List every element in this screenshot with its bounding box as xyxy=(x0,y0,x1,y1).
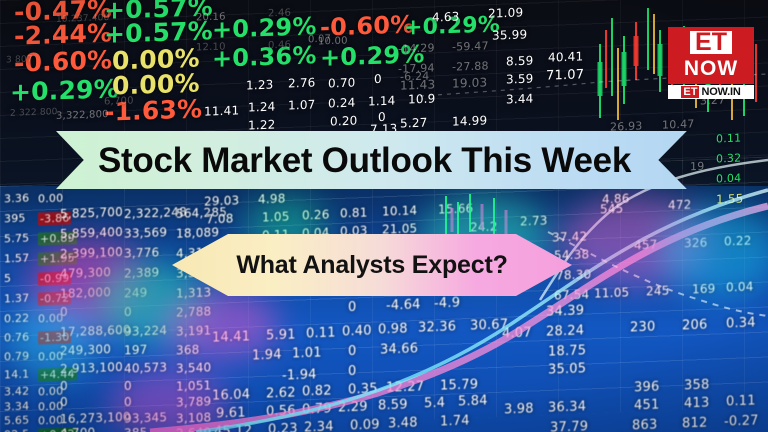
logo-et-row: ET xyxy=(668,27,754,57)
headline-text: Stock Market Outlook This Week xyxy=(98,143,631,178)
logo-site-suffix: NOW.IN xyxy=(701,86,740,98)
subhead-text: What Analysts Expect? xyxy=(236,251,507,280)
subhead-arrow-banner: What Analysts Expect? xyxy=(172,234,572,296)
logo-now-row: NOW xyxy=(668,57,754,84)
logo-now-text: NOW xyxy=(684,57,738,80)
logo-letter-e: ET xyxy=(690,31,732,54)
glow-blob xyxy=(108,370,228,432)
glow-blob xyxy=(160,290,280,360)
logo-site-prefix: ET xyxy=(681,86,699,98)
news-graphic: -0.47%-2.44%-0.60%+0.29%+0.57%+0.57%0.00… xyxy=(0,0,768,432)
etnow-logo: ET NOW ET NOW.IN xyxy=(668,27,754,99)
glow-blob xyxy=(660,206,768,296)
glow-blob xyxy=(8,300,98,380)
market-board-background: -0.47%-2.44%-0.60%+0.29%+0.57%+0.57%0.00… xyxy=(0,0,768,432)
logo-site-row: ET NOW.IN xyxy=(668,85,754,99)
